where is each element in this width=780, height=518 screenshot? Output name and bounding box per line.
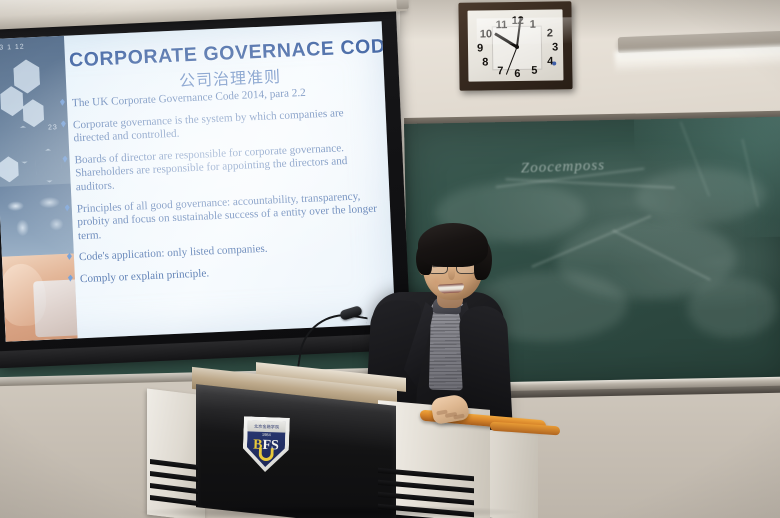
slide-bullet-item: Corporate governance is the system by wh…	[60, 105, 381, 147]
clock-numeral-6: 6	[514, 69, 520, 80]
housing-end-cap	[396, 0, 409, 9]
bullet-diamond-icon	[67, 253, 72, 260]
slide-bullet-list: The UK Corporate Governance Code 2014, p…	[59, 84, 388, 296]
slide-bullet-text: Corporate governance is the system by wh…	[73, 107, 344, 145]
presentation-slide: 53 1 12 23 CORPORATE GOVERNACE CODE 公司治理…	[0, 21, 395, 341]
speaker-hair	[418, 223, 488, 267]
lecture-hall-photo: 12 1 2 3 4 5 6 7 8 9 10 11	[0, 0, 780, 518]
clock-center-pin	[515, 45, 519, 49]
bullet-diamond-icon	[61, 120, 66, 127]
slide-bullet-item: Boards of director are responsible for c…	[61, 140, 383, 195]
clock-face: 12 1 2 3 4 5 6 7 8 9 10 11	[468, 9, 564, 81]
podium-university-crest: 北京金融学院 1984 BFS	[242, 416, 290, 473]
slide-bullet-text: Code's application: only listed companie…	[79, 243, 268, 264]
clock-numeral-5: 5	[531, 66, 537, 77]
wall-clock: 12 1 2 3 4 5 6 7 8 9 10 11	[458, 1, 572, 91]
clock-numeral-9: 9	[477, 43, 483, 54]
podium-front-panel	[196, 384, 396, 518]
clock-blue-dot	[552, 61, 556, 65]
slide-bullet-item: Principles of all good governance: accou…	[64, 189, 386, 244]
bullet-diamond-icon	[68, 275, 73, 282]
bullet-diamond-icon	[62, 155, 67, 162]
slide-bullet-text: Boards of director are responsible for c…	[74, 142, 347, 193]
clock-numeral-8: 8	[482, 57, 488, 68]
bullet-diamond-icon	[60, 99, 65, 106]
clock-glass-glare	[477, 17, 572, 44]
clock-numeral-7: 7	[497, 66, 503, 77]
slide-bullet-text: Comply or explain principle.	[80, 267, 210, 285]
chalkboard-faint-writing: Zoocemposs	[521, 157, 606, 177]
slide-deco-number-top: 53 1 12	[0, 44, 25, 52]
slide-bullet-text: Principles of all good governance: accou…	[77, 190, 378, 242]
bullet-diamond-icon	[65, 204, 70, 211]
podium-floor-shadow	[140, 505, 520, 518]
speaker-nose	[448, 268, 455, 280]
clock-numeral-3: 3	[552, 42, 558, 53]
slide-content: CORPORATE GOVERNACE CODE 公司治理准则 The UK C…	[52, 22, 389, 339]
